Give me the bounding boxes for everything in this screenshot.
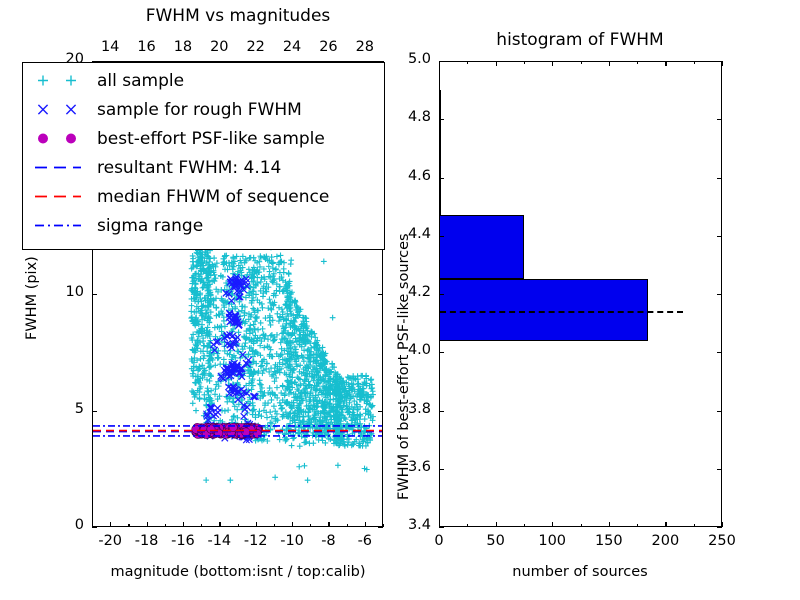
scatter-point <box>297 443 303 449</box>
scatter-point <box>205 389 211 395</box>
right-x-axis-label: number of sources <box>512 564 648 580</box>
right-xtick-top <box>637 61 638 64</box>
right-ytick-label: 4.2 <box>408 284 431 300</box>
scatter-point <box>314 403 320 409</box>
left-xtick-bottom <box>183 522 184 527</box>
right-ytick-label: 3.4 <box>408 517 431 533</box>
right-ytick <box>439 352 444 353</box>
right-xtick-top <box>496 61 497 66</box>
scatter-point <box>243 340 249 346</box>
right-xtick <box>609 522 610 527</box>
scatter-point <box>264 415 270 421</box>
left-xtick-label-bottom: -12 <box>244 533 268 549</box>
scatter-point <box>227 477 233 483</box>
legend-marker-cross-icon <box>23 95 97 124</box>
right-xtick-top <box>665 61 666 66</box>
scatter-point <box>277 437 283 443</box>
scatter-point <box>234 348 240 354</box>
right-xtick-top <box>552 61 553 66</box>
right-xtick <box>665 522 666 527</box>
right-ytick-right <box>717 119 722 120</box>
left-xtick-label-bottom: -16 <box>171 533 195 549</box>
scatter-point <box>267 296 273 302</box>
histogram-reference-line <box>440 311 683 313</box>
right-ytick-label: 3.6 <box>408 459 431 475</box>
right-xtick-top <box>581 61 582 64</box>
right-xtick-top <box>694 61 695 64</box>
scatter-point <box>199 322 205 328</box>
scatter-point <box>230 414 236 420</box>
left-ytick-right <box>378 411 383 412</box>
histogram-bar <box>440 215 524 279</box>
legend-item: sigma range <box>23 211 384 240</box>
right-xtick-top <box>609 61 610 66</box>
left-xtick-bottom <box>256 522 257 527</box>
right-xtick-top <box>524 61 525 64</box>
scatter-point <box>305 477 311 483</box>
legend-marker-circle-icon <box>23 124 97 153</box>
left-xtick-label-top: 24 <box>283 39 301 55</box>
right-ytick <box>439 236 444 237</box>
left-ytick <box>92 411 97 412</box>
scatter-point <box>204 388 210 394</box>
legend-item: best-effort PSF-like sample <box>23 124 384 153</box>
scatter-point <box>281 266 287 272</box>
scatter-point <box>274 385 280 391</box>
scatter-point <box>277 284 283 290</box>
left-xtick-label-bottom: -10 <box>280 533 304 549</box>
scatter-point <box>293 299 299 305</box>
scatter-point <box>221 318 227 324</box>
left-ytick <box>92 527 97 528</box>
right-ytick-label: 4.8 <box>408 109 431 125</box>
right-ytick-right <box>717 61 722 62</box>
left-xtick-label-bottom: -14 <box>207 533 231 549</box>
left-xtick-label-bottom: -8 <box>321 533 335 549</box>
left-xtick-label-top: 18 <box>174 39 192 55</box>
scatter-point <box>297 362 303 368</box>
scatter-point <box>330 315 336 321</box>
scatter-point <box>212 325 218 331</box>
right-xtick-label: 0 <box>434 533 443 549</box>
right-ytick-right <box>717 352 722 353</box>
scatter-point <box>258 279 264 285</box>
scatter-point <box>259 275 265 281</box>
legend-item: resultant FWHM: 4.14 <box>23 153 384 182</box>
scatter-point <box>260 294 266 300</box>
right-ytick <box>439 61 444 62</box>
scatter-point <box>300 414 306 420</box>
right-ytick <box>439 119 444 120</box>
histogram-plot-area <box>440 62 721 526</box>
histogram-bar <box>440 279 648 340</box>
left-xtick-bottom <box>219 522 220 527</box>
left-xtick-bottom <box>383 524 384 527</box>
legend-item: sample for rough FWHM <box>23 95 384 124</box>
scatter-point <box>203 477 209 483</box>
scatter-point <box>247 322 253 328</box>
scatter-point <box>217 361 223 367</box>
legend-marker-plus-icon <box>23 66 97 95</box>
right-xtick-label: 150 <box>595 533 623 549</box>
scatter-point <box>288 257 294 263</box>
scatter-point <box>278 406 284 412</box>
scatter-point <box>289 443 295 449</box>
right-xtick-top <box>722 61 723 66</box>
left-xtick-label-top: 14 <box>101 39 119 55</box>
scatter-point <box>193 408 199 414</box>
left-xtick-bottom <box>128 524 129 527</box>
scatter-point <box>258 320 264 326</box>
legend-box: all samplesample for rough FWHMbest-effo… <box>22 62 385 250</box>
scatter-point <box>271 403 277 409</box>
scatter-point <box>321 258 327 264</box>
legend-marker-dashdot-icon <box>23 211 97 240</box>
right-xtick <box>581 524 582 527</box>
scatter-point <box>278 253 284 259</box>
right-ytick <box>439 178 444 179</box>
scatter-point <box>271 338 277 344</box>
scatter-point <box>198 356 204 362</box>
legend-marker-dashed-icon <box>23 182 97 211</box>
left-xtick-bottom <box>292 522 293 527</box>
legend-item-label: median FHWM of sequence <box>97 187 329 207</box>
scatter-point <box>190 400 196 406</box>
histogram-bar <box>440 90 441 215</box>
scatter-point <box>291 367 297 373</box>
right-ytick-right <box>717 411 722 412</box>
left-ytick-right <box>378 527 383 528</box>
right-xtick <box>467 524 468 527</box>
legend-item-label: sample for rough FWHM <box>97 100 302 120</box>
right-panel-title: histogram of FWHM <box>496 30 663 50</box>
left-panel-title: FWHM vs magnitudes <box>146 6 331 26</box>
right-ytick-label: 5.0 <box>408 51 431 67</box>
right-xtick-label: 50 <box>486 533 504 549</box>
left-xtick-label-bottom: -6 <box>358 533 372 549</box>
scatter-point <box>249 386 255 392</box>
left-xtick-label-top: 20 <box>210 39 228 55</box>
right-xtick <box>524 524 525 527</box>
right-ytick-right <box>717 178 722 179</box>
scatter-point <box>210 341 216 347</box>
left-xtick-bottom <box>110 522 111 527</box>
right-xtick <box>694 524 695 527</box>
scatter-point <box>274 311 280 317</box>
right-ytick-right <box>717 236 722 237</box>
scatter-point <box>274 254 280 260</box>
left-ytick-label: 0 <box>75 517 84 533</box>
scatter-point <box>207 372 213 378</box>
right-xtick <box>722 522 723 527</box>
scatter-point <box>362 416 368 422</box>
left-y-axis-label: FWHM (pix) <box>24 256 40 340</box>
left-xtick-bottom <box>310 524 311 527</box>
legend-item-label: best-effort PSF-like sample <box>97 129 325 149</box>
scatter-point <box>279 336 285 342</box>
scatter-point <box>296 376 302 382</box>
scatter-point <box>197 395 203 401</box>
scatter-point <box>225 407 231 413</box>
left-xtick-bottom <box>165 524 166 527</box>
right-xtick <box>496 522 497 527</box>
scatter-point <box>189 303 195 309</box>
scatter-point <box>272 474 278 480</box>
right-xtick <box>637 524 638 527</box>
left-ytick-label: 5 <box>75 401 84 417</box>
right-ytick-label: 4.4 <box>408 226 431 242</box>
scatter-point <box>286 270 292 276</box>
scatter-point <box>201 343 207 349</box>
scatter-point <box>302 463 308 469</box>
legend-item: all sample <box>23 66 384 95</box>
scatter-point <box>214 405 220 411</box>
scatter-point <box>248 255 254 261</box>
left-xtick-bottom <box>328 522 329 527</box>
figure-canvas: FWHM vs magnitudes FWHM (pix) magnitude … <box>0 0 800 600</box>
right-ytick <box>439 469 444 470</box>
scatter-point <box>269 397 275 403</box>
legend-item-label: sigma range <box>97 216 203 236</box>
legend-marker-dashed-icon <box>23 153 97 182</box>
right-ytick-right <box>717 294 722 295</box>
left-x-axis-label: magnitude (bottom:isnt / top:calib) <box>110 564 365 580</box>
scatter-point <box>277 400 283 406</box>
left-xtick-label-top: 16 <box>137 39 155 55</box>
left-ytick <box>92 294 97 295</box>
left-xtick-bottom <box>238 524 239 527</box>
legend-item-label: all sample <box>97 71 184 91</box>
left-xtick-bottom <box>347 524 348 527</box>
legend-item: median FHWM of sequence <box>23 182 384 211</box>
scatter-point <box>310 440 316 446</box>
right-ytick-label: 4.6 <box>408 168 431 184</box>
scatter-point <box>251 322 257 328</box>
left-xtick-label-bottom: -18 <box>135 533 159 549</box>
left-xtick-label-bottom: -20 <box>98 533 122 549</box>
scatter-point <box>222 408 228 414</box>
scatter-point <box>335 462 341 468</box>
scatter-point <box>221 357 227 363</box>
right-xtick-label: 200 <box>652 533 680 549</box>
right-xtick-label: 100 <box>538 533 566 549</box>
right-xtick-label: 250 <box>708 533 736 549</box>
left-xtick-label-top: 26 <box>319 39 337 55</box>
right-ytick <box>439 411 444 412</box>
scatter-point <box>316 437 322 443</box>
left-ytick-right <box>378 294 383 295</box>
left-xtick-bottom <box>365 522 366 527</box>
scatter-point <box>260 326 266 332</box>
right-ytick-label: 4.0 <box>408 342 431 358</box>
legend-item-label: resultant FWHM: 4.14 <box>97 158 281 178</box>
scatter-point <box>214 260 220 266</box>
scatter-point <box>258 382 264 388</box>
scatter-point <box>280 383 286 389</box>
left-xtick-bottom <box>201 524 202 527</box>
right-ytick <box>439 294 444 295</box>
scatter-point <box>260 305 266 311</box>
right-ytick <box>439 527 444 528</box>
right-xtick-top <box>467 61 468 64</box>
left-xtick-bottom <box>274 524 275 527</box>
scatter-point <box>250 412 256 418</box>
scatter-point <box>241 413 247 419</box>
scatter-point <box>296 464 302 470</box>
left-ytick-label: 10 <box>66 284 84 300</box>
right-ytick-right <box>717 469 722 470</box>
left-xtick-label-top: 28 <box>356 39 374 55</box>
right-ytick-right <box>717 527 722 528</box>
right-xtick <box>552 522 553 527</box>
left-xtick-bottom <box>147 522 148 527</box>
scatter-point <box>268 333 274 339</box>
left-xtick-label-top: 22 <box>246 39 264 55</box>
right-ytick-label: 3.8 <box>408 401 431 417</box>
